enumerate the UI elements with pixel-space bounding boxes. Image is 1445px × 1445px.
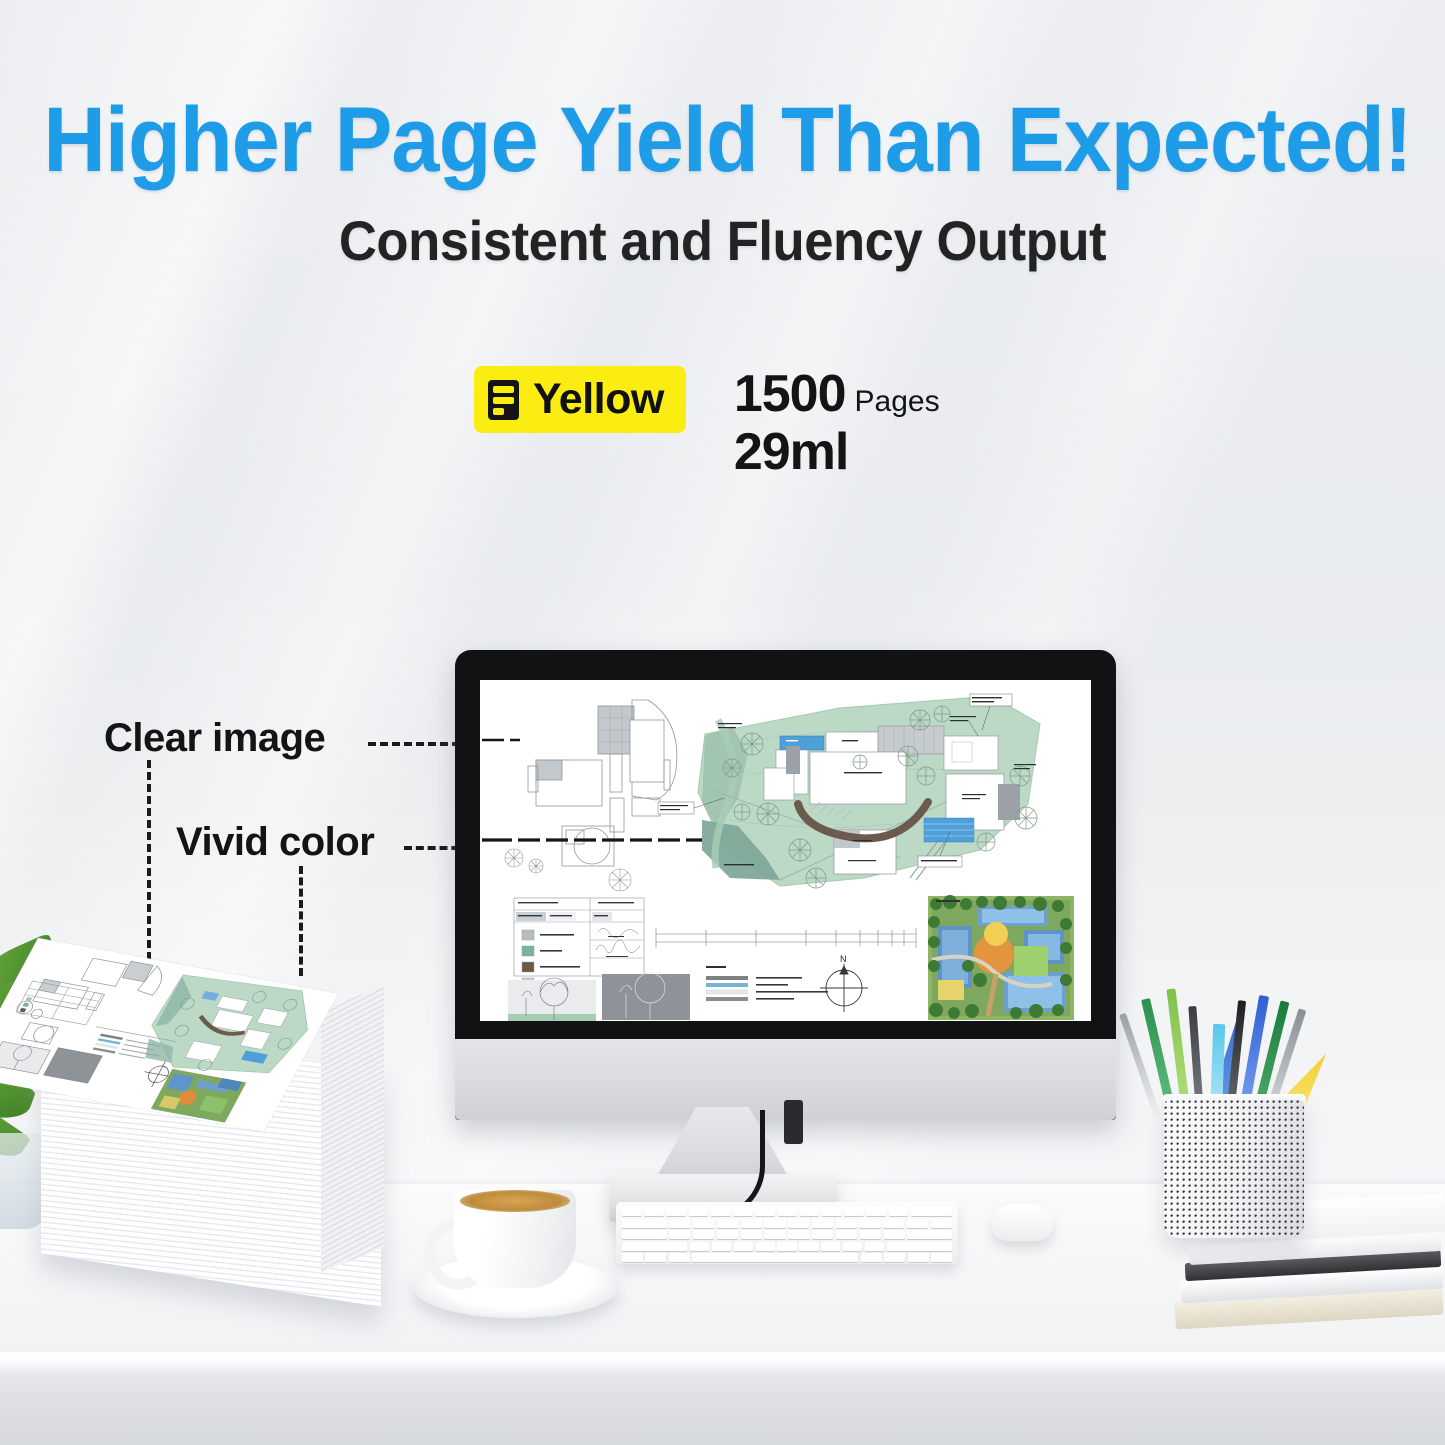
paper-stack xyxy=(38,938,428,1328)
yield-spec: 1500 Pages 29ml xyxy=(734,366,940,478)
monitor[interactable]: N xyxy=(455,650,1116,1120)
callout-line-clear-image-drop xyxy=(147,760,151,960)
coffee-cup xyxy=(405,1178,630,1323)
page-title: Higher Page Yield Than Expected! xyxy=(43,88,1401,193)
coffee-surface xyxy=(460,1190,570,1212)
pencil-cup xyxy=(1148,948,1338,1208)
keyboard[interactable] xyxy=(616,1202,958,1264)
site-plan-document: N xyxy=(480,680,1091,1021)
compass-north-label: N xyxy=(840,954,847,964)
callout-clear-image: Clear image xyxy=(104,716,325,761)
pencil-cup-mesh xyxy=(1164,1100,1304,1238)
badge-color-label: Yellow xyxy=(533,378,664,421)
monitor-screen[interactable]: N xyxy=(480,680,1091,1021)
page-yield-value: 1500 xyxy=(734,368,846,420)
page-yield-unit: Pages xyxy=(855,387,940,417)
ink-cartridge-icon xyxy=(488,380,519,420)
product-marketing-image: Higher Page Yield Than Expected! Consist… xyxy=(0,0,1445,1445)
mouse[interactable] xyxy=(992,1204,1053,1241)
paper-stack-right-edges xyxy=(321,985,384,1272)
spec-row: Yellow 1500 Pages 29ml xyxy=(474,366,940,478)
callout-vivid-color: Vivid color xyxy=(176,820,374,865)
aerial-render-thumbnail xyxy=(928,895,1074,1020)
page-subtitle: Consistent and Fluency Output xyxy=(43,208,1401,273)
usb-dongle xyxy=(784,1100,803,1144)
book-stack xyxy=(1175,1238,1445,1346)
ink-volume-value: 29ml xyxy=(734,426,940,478)
desk-front-edge xyxy=(0,1352,1445,1445)
color-badge: Yellow xyxy=(474,366,686,433)
